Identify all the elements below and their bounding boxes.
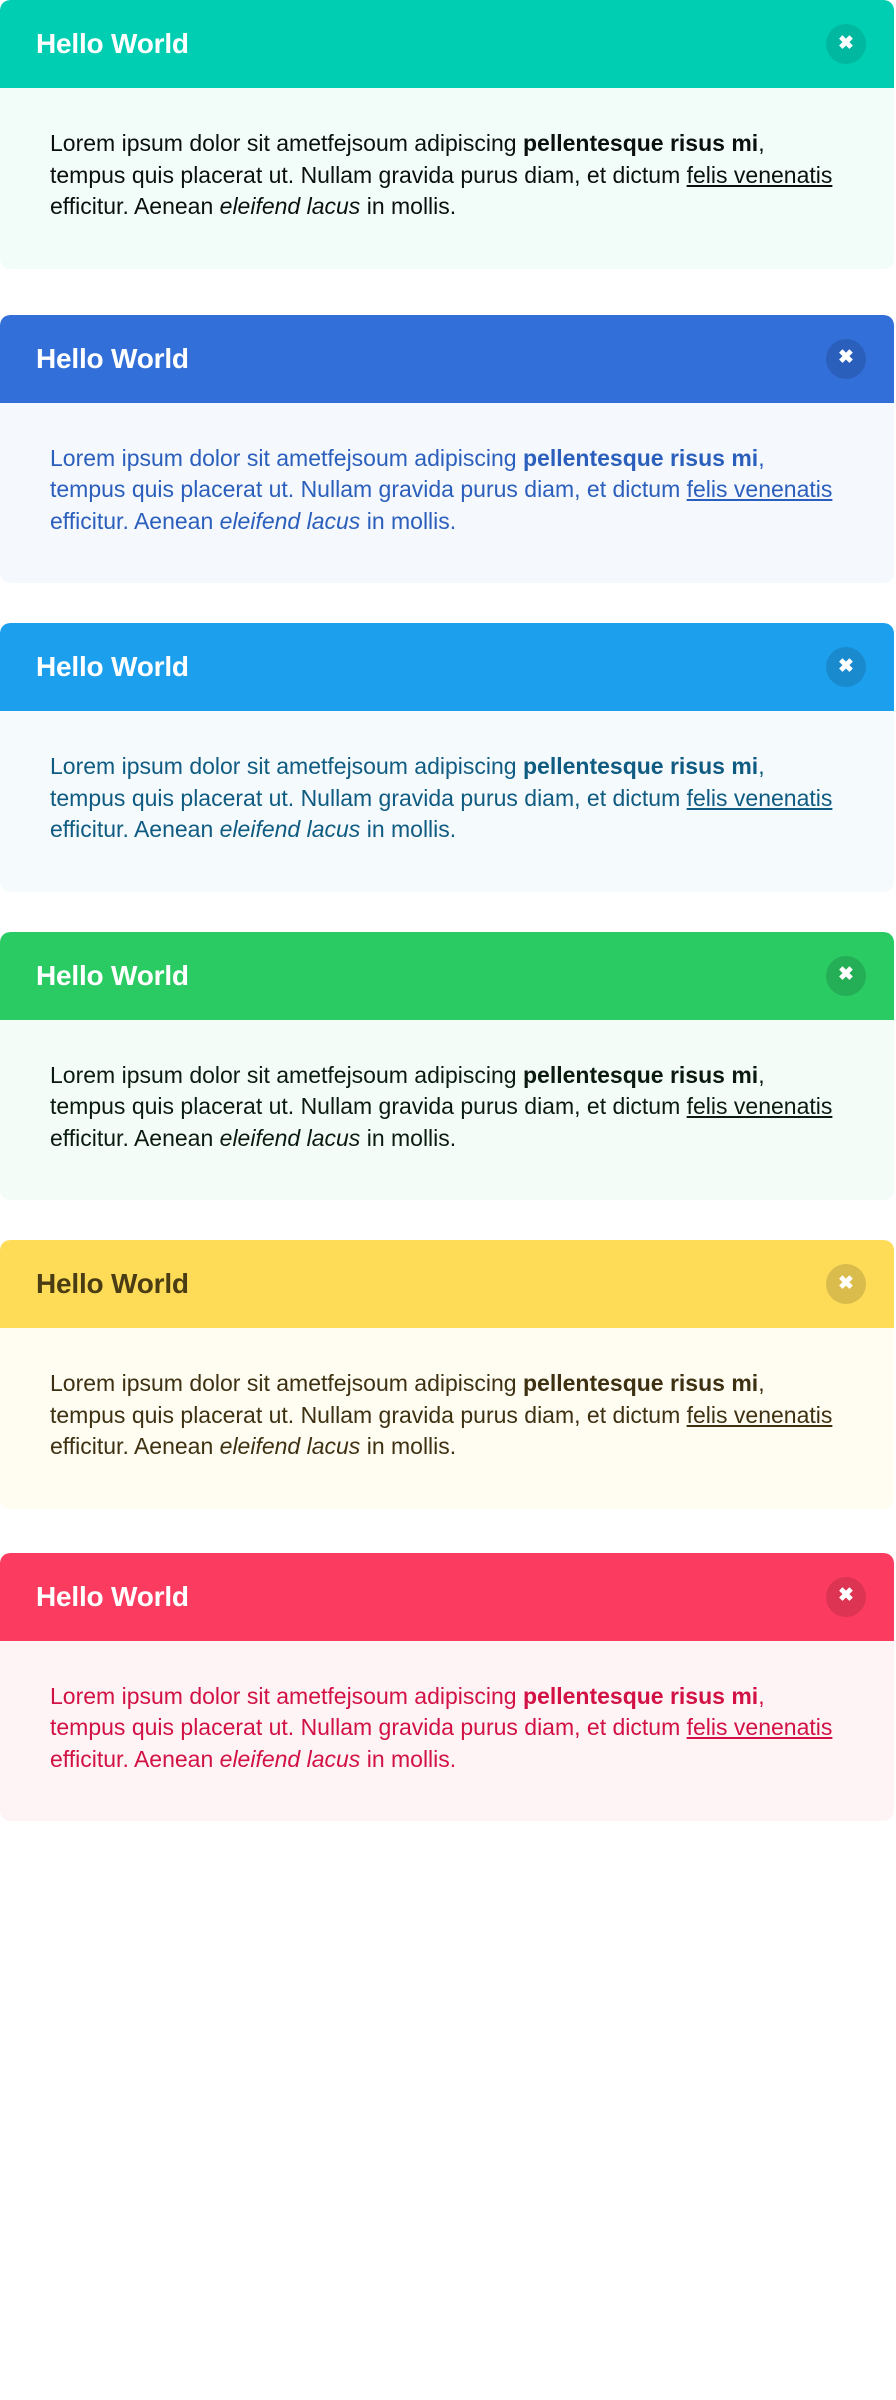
card-body: Lorem ipsum dolor sit ametfejsoum adipis… — [0, 88, 894, 269]
body-text-link[interactable]: felis venenatis — [687, 1402, 833, 1428]
body-text-link[interactable]: felis venenatis — [687, 1093, 833, 1119]
body-text-bold: pellentesque risus mi — [523, 130, 758, 156]
close-button[interactable]: ✖ — [826, 24, 866, 64]
body-text-bold: pellentesque risus mi — [523, 1062, 758, 1088]
body-text-segment-1: Lorem ipsum dolor sit ametfejsoum adipis… — [50, 753, 523, 779]
close-icon: ✖ — [838, 657, 854, 676]
card-body-text: Lorem ipsum dolor sit ametfejsoum adipis… — [50, 751, 844, 846]
card-body: Lorem ipsum dolor sit ametfejsoum adipis… — [0, 403, 894, 584]
close-icon: ✖ — [838, 1586, 854, 1605]
body-text-segment-3: efficitur. Aenean — [50, 1746, 220, 1772]
body-text-segment-3: efficitur. Aenean — [50, 1433, 220, 1459]
card-title: Hello World — [36, 962, 189, 990]
close-button[interactable]: ✖ — [826, 956, 866, 996]
body-text-italic: eleifend lacus — [220, 816, 361, 842]
body-text-segment-1: Lorem ipsum dolor sit ametfejsoum adipis… — [50, 1370, 523, 1396]
close-button[interactable]: ✖ — [826, 647, 866, 687]
card-body-text: Lorem ipsum dolor sit ametfejsoum adipis… — [50, 1681, 844, 1776]
body-text-link[interactable]: felis venenatis — [687, 162, 833, 188]
body-text-italic: eleifend lacus — [220, 1125, 361, 1151]
card-header: Hello World✖ — [0, 1553, 894, 1641]
card-title: Hello World — [36, 1270, 189, 1298]
card-header: Hello World✖ — [0, 932, 894, 1020]
card-body-text: Lorem ipsum dolor sit ametfejsoum adipis… — [50, 128, 844, 223]
card-body: Lorem ipsum dolor sit ametfejsoum adipis… — [0, 1020, 894, 1201]
alert-card-list: Hello World✖Lorem ipsum dolor sit ametfe… — [0, 0, 896, 1821]
alert-card: Hello World✖Lorem ipsum dolor sit ametfe… — [0, 1553, 894, 1822]
card-title: Hello World — [36, 30, 189, 58]
close-icon: ✖ — [838, 1274, 854, 1293]
card-header: Hello World✖ — [0, 623, 894, 711]
body-text-italic: eleifend lacus — [220, 193, 361, 219]
card-spacer — [0, 1509, 896, 1553]
alert-card: Hello World✖Lorem ipsum dolor sit ametfe… — [0, 0, 894, 269]
body-text-segment-4: in mollis. — [360, 1433, 456, 1459]
card-header: Hello World✖ — [0, 0, 894, 88]
body-text-segment-4: in mollis. — [360, 193, 456, 219]
card-body: Lorem ipsum dolor sit ametfejsoum adipis… — [0, 711, 894, 892]
card-spacer — [0, 892, 896, 932]
body-text-segment-4: in mollis. — [360, 816, 456, 842]
body-text-segment-3: efficitur. Aenean — [50, 193, 220, 219]
body-text-segment-3: efficitur. Aenean — [50, 508, 220, 534]
body-text-italic: eleifend lacus — [220, 1433, 361, 1459]
card-spacer — [0, 583, 896, 623]
close-icon: ✖ — [838, 348, 854, 367]
close-icon: ✖ — [838, 965, 854, 984]
alert-card: Hello World✖Lorem ipsum dolor sit ametfe… — [0, 623, 894, 892]
body-text-bold: pellentesque risus mi — [523, 753, 758, 779]
card-title: Hello World — [36, 345, 189, 373]
card-header: Hello World✖ — [0, 1240, 894, 1328]
card-body: Lorem ipsum dolor sit ametfejsoum adipis… — [0, 1641, 894, 1822]
body-text-segment-1: Lorem ipsum dolor sit ametfejsoum adipis… — [50, 130, 523, 156]
body-text-bold: pellentesque risus mi — [523, 1370, 758, 1396]
alert-card: Hello World✖Lorem ipsum dolor sit ametfe… — [0, 1240, 894, 1509]
body-text-italic: eleifend lacus — [220, 1746, 361, 1772]
body-text-segment-4: in mollis. — [360, 508, 456, 534]
alert-card: Hello World✖Lorem ipsum dolor sit ametfe… — [0, 932, 894, 1201]
body-text-bold: pellentesque risus mi — [523, 445, 758, 471]
body-text-segment-1: Lorem ipsum dolor sit ametfejsoum adipis… — [50, 1062, 523, 1088]
body-text-link[interactable]: felis venenatis — [687, 476, 833, 502]
card-body: Lorem ipsum dolor sit ametfejsoum adipis… — [0, 1328, 894, 1509]
card-title: Hello World — [36, 653, 189, 681]
body-text-link[interactable]: felis venenatis — [687, 1714, 833, 1740]
card-body-text: Lorem ipsum dolor sit ametfejsoum adipis… — [50, 1060, 844, 1155]
card-title: Hello World — [36, 1583, 189, 1611]
body-text-italic: eleifend lacus — [220, 508, 361, 534]
card-body-text: Lorem ipsum dolor sit ametfejsoum adipis… — [50, 443, 844, 538]
close-button[interactable]: ✖ — [826, 1577, 866, 1617]
body-text-link[interactable]: felis venenatis — [687, 785, 833, 811]
body-text-segment-1: Lorem ipsum dolor sit ametfejsoum adipis… — [50, 445, 523, 471]
close-button[interactable]: ✖ — [826, 339, 866, 379]
close-button[interactable]: ✖ — [826, 1264, 866, 1304]
card-body-text: Lorem ipsum dolor sit ametfejsoum adipis… — [50, 1368, 844, 1463]
card-spacer — [0, 269, 896, 315]
alert-card: Hello World✖Lorem ipsum dolor sit ametfe… — [0, 315, 894, 584]
body-text-segment-1: Lorem ipsum dolor sit ametfejsoum adipis… — [50, 1683, 523, 1709]
card-spacer — [0, 1200, 896, 1240]
body-text-segment-3: efficitur. Aenean — [50, 816, 220, 842]
body-text-bold: pellentesque risus mi — [523, 1683, 758, 1709]
close-icon: ✖ — [838, 34, 854, 53]
card-header: Hello World✖ — [0, 315, 894, 403]
body-text-segment-4: in mollis. — [360, 1746, 456, 1772]
body-text-segment-4: in mollis. — [360, 1125, 456, 1151]
body-text-segment-3: efficitur. Aenean — [50, 1125, 220, 1151]
